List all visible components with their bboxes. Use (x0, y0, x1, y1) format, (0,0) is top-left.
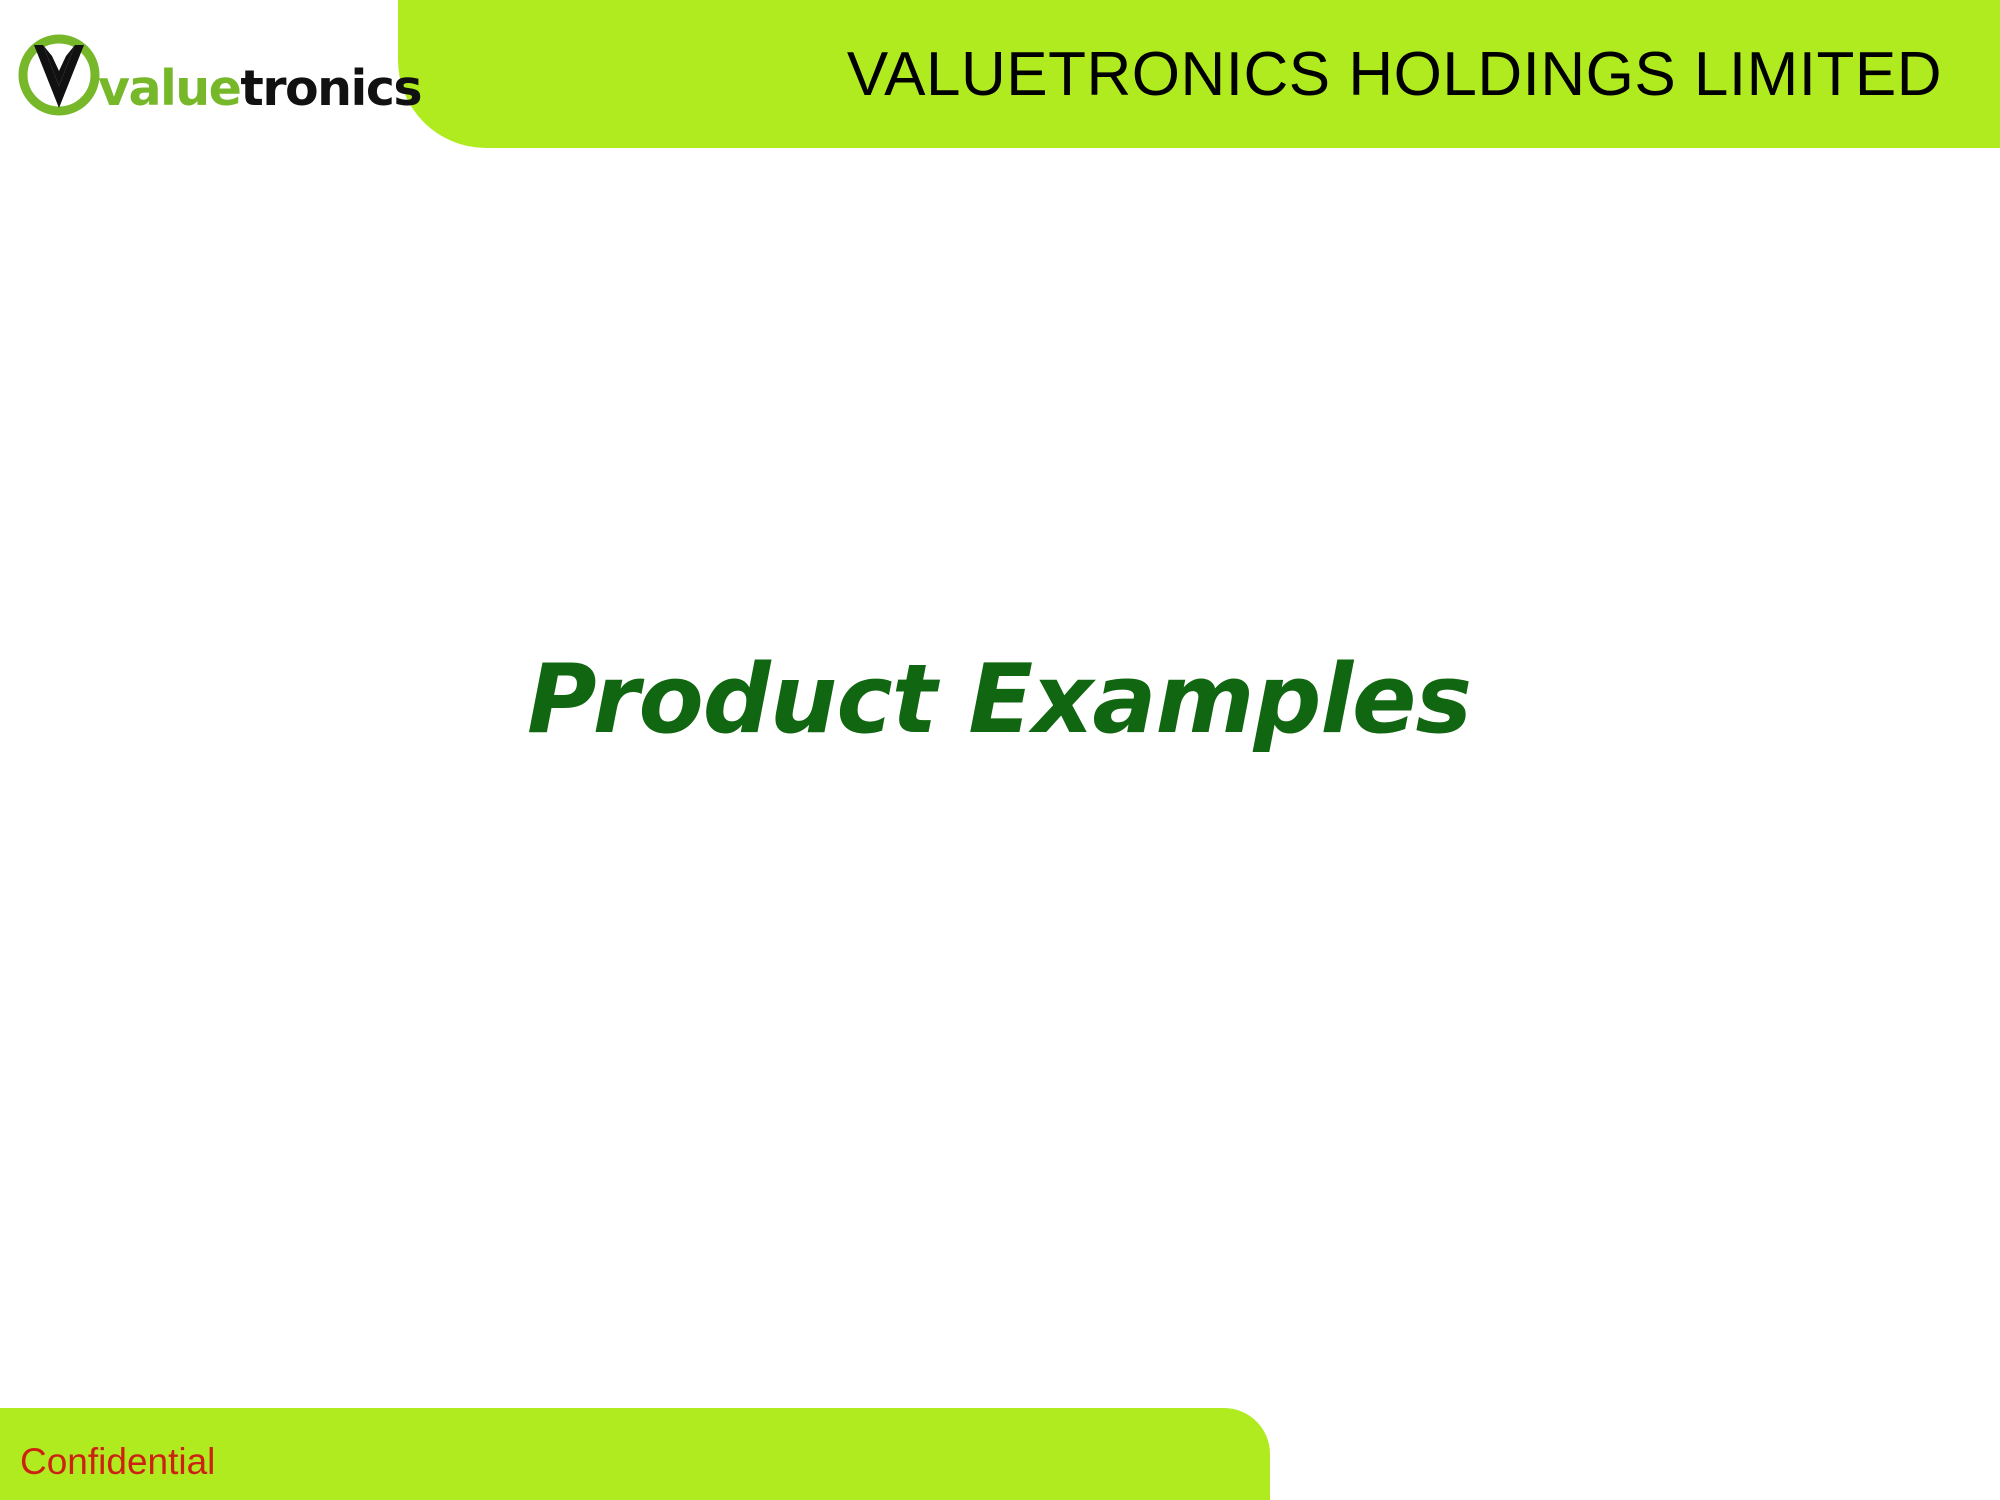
header-bar: VALUETRONICS HOLDINGS LIMITED (398, 0, 2000, 148)
slide-headline: Product Examples (527, 645, 1471, 755)
logo-wordmark-tronics: tronics (240, 60, 421, 117)
logo-wordmark: valuetronics (98, 64, 421, 113)
logo-wordmark-value: value (98, 60, 240, 117)
slide-canvas: VALUETRONICS HOLDINGS LIMITED valuetroni… (0, 0, 2000, 1500)
headline-block: Product Examples (0, 645, 2000, 755)
confidential-label: Confidential (20, 1443, 215, 1480)
valuetronics-circle-v-logo-icon (14, 30, 104, 120)
page-title: VALUETRONICS HOLDINGS LIMITED (398, 0, 2000, 148)
company-logo: valuetronics (14, 30, 394, 125)
